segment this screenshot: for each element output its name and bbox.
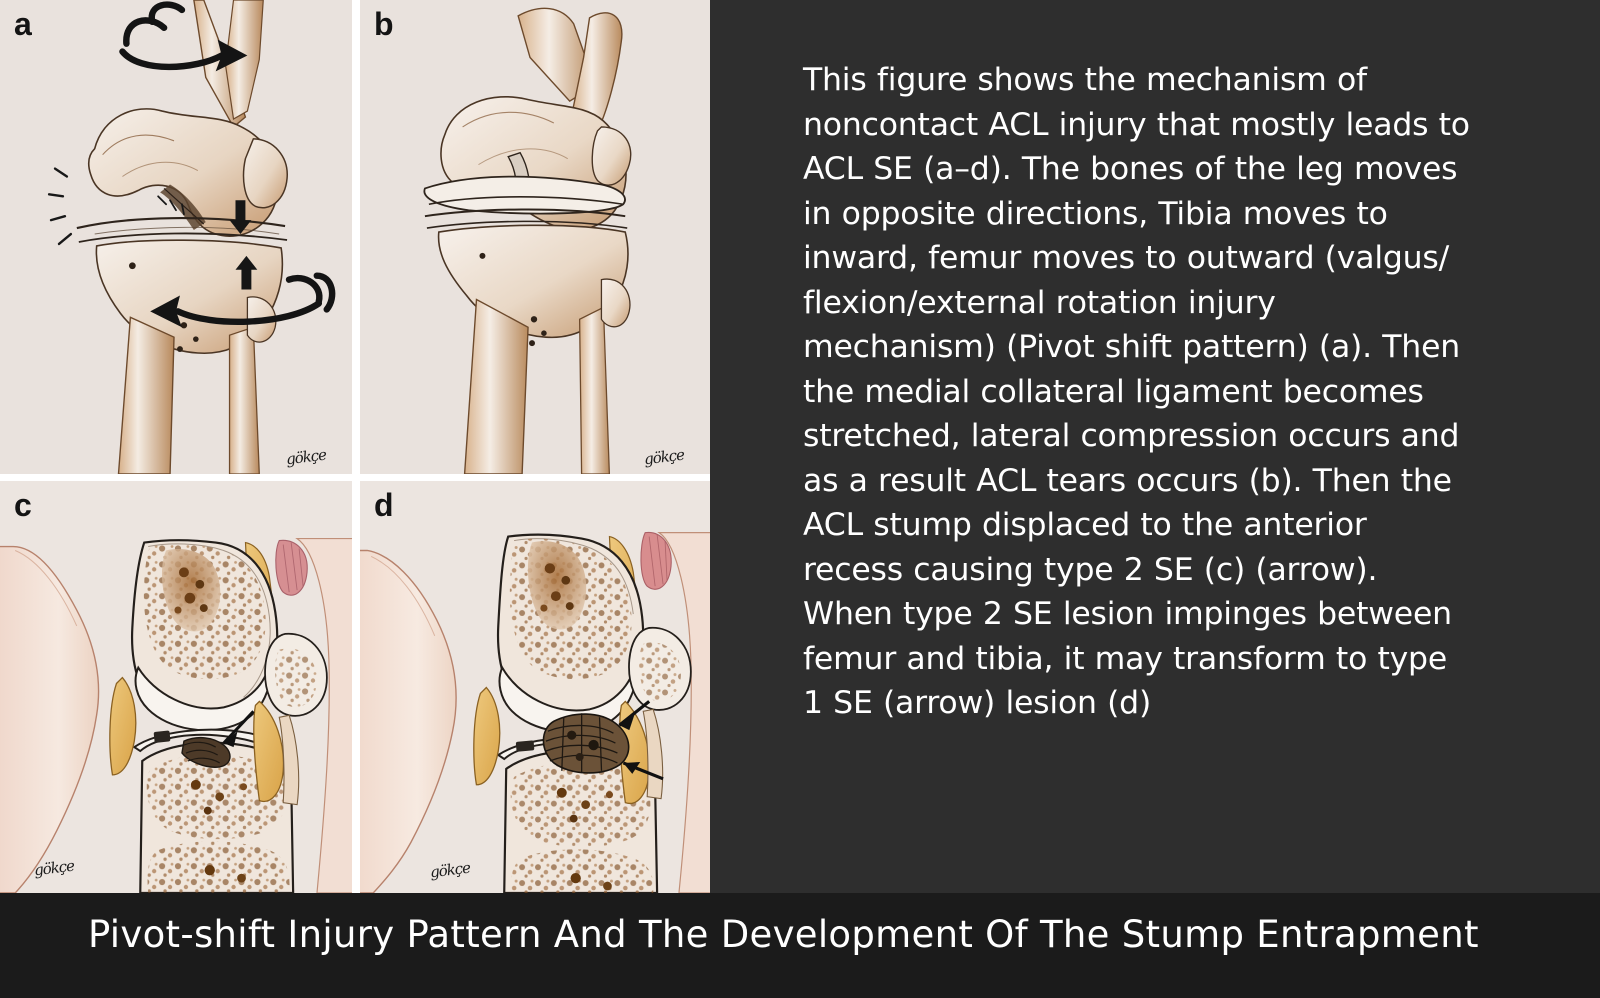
description-panel: This figure shows the mechanism of nonco… [710,0,1600,893]
knee-sagittal-type1-se-drawing [360,481,710,893]
figure-panel-c: c gökçe [0,478,356,893]
figure-page: a gökçe [0,0,1600,998]
panel-label-a: a [14,8,32,40]
figure-caption: Pivot-shift Injury Pattern And The Devel… [88,909,1479,961]
knee-sagittal-type2-se-drawing [0,481,352,893]
figure-description-text: This figure shows the mechanism of nonco… [803,58,1475,726]
panel-label-b: b [374,8,394,40]
panel-label-c: c [14,489,32,521]
figure-panel-d: d gökçe [356,478,710,893]
panel-label-d: d [374,489,394,521]
knee-acl-tear-drawing [360,0,710,474]
figure-panel-b: b gökçe [356,0,710,478]
figure-panel-a: a gökçe [0,0,356,478]
figure-image-grid: a gökçe [0,0,710,893]
caption-bar: Pivot-shift Injury Pattern And The Devel… [0,893,1600,998]
knee-pivot-shift-drawing [0,0,352,474]
